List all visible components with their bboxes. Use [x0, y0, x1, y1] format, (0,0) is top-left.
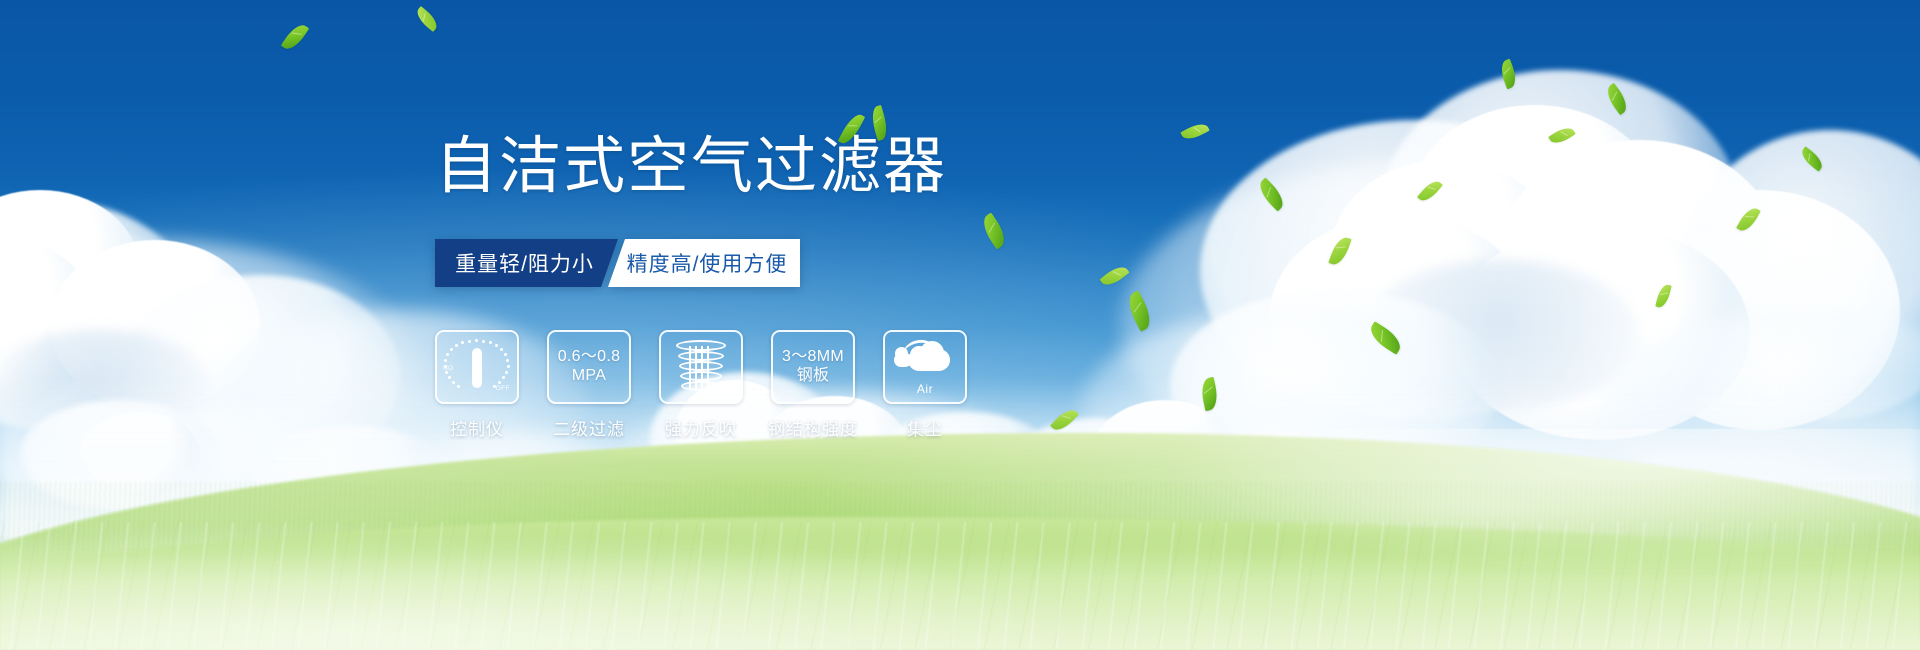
steel-icon: 3～8MM 钢板 — [782, 348, 844, 385]
gauge-label-off: OFF — [496, 385, 510, 392]
feature-box — [659, 330, 743, 404]
banner-title: 自洁式空气过滤器 — [435, 136, 947, 198]
steel-value-line2: 钢板 — [782, 367, 844, 386]
hero-banner: 自洁式空气过滤器 重量轻/阻力小 精度高/使用方便 — [0, 0, 1920, 650]
feature-item-pressure[interactable]: 0.6～0.8 MPA 二级过滤 — [547, 330, 631, 440]
coil-icon — [675, 338, 727, 396]
feature-item-controller[interactable]: NO OFF 控制仪 — [435, 330, 519, 440]
feature-box: 0.6～0.8 MPA — [547, 330, 631, 404]
gauge-needle — [472, 348, 482, 388]
pressure-value-line1: 0.6～0.8 — [558, 348, 621, 367]
feature-label: 二级过滤 — [553, 415, 625, 440]
feature-box: NO OFF — [435, 330, 519, 404]
feature-item-steel[interactable]: 3～8MM 钢板 钢结构强度 — [771, 330, 855, 440]
tab-lightweight-lowresistance[interactable]: 重量轻/阻力小 — [435, 239, 618, 287]
feature-label: 强力反吹 — [665, 415, 737, 440]
steel-value-line1: 3～8MM — [782, 348, 844, 367]
pressure-value-line2: MPA — [558, 367, 621, 386]
air-label: Air — [894, 382, 956, 396]
feature-label: 控制仪 — [450, 415, 504, 440]
pressure-icon: 0.6～0.8 MPA — [558, 348, 621, 385]
air-cloud-icon: Air — [894, 339, 956, 395]
banner-content: 自洁式空气过滤器 重量轻/阻力小 精度高/使用方便 — [0, 0, 1920, 650]
tab-precision-easyuse[interactable]: 精度高/使用方便 — [608, 239, 800, 287]
feature-box: 3～8MM 钢板 — [771, 330, 855, 404]
feature-label: 钢结构强度 — [768, 415, 858, 440]
feature-tabs: 重量轻/阻力小 精度高/使用方便 — [435, 239, 800, 287]
feature-item-dustcollection[interactable]: Air 集尘 — [883, 330, 967, 440]
feature-item-backflush[interactable]: 强力反吹 — [659, 330, 743, 440]
gauge-label-no: NO — [443, 365, 454, 372]
feature-box: Air — [883, 330, 967, 404]
feature-label: 集尘 — [907, 415, 943, 440]
gauge-icon: NO OFF — [444, 338, 510, 396]
feature-list: NO OFF 控制仪 0.6～0.8 MPA 二级过滤 — [435, 330, 967, 440]
